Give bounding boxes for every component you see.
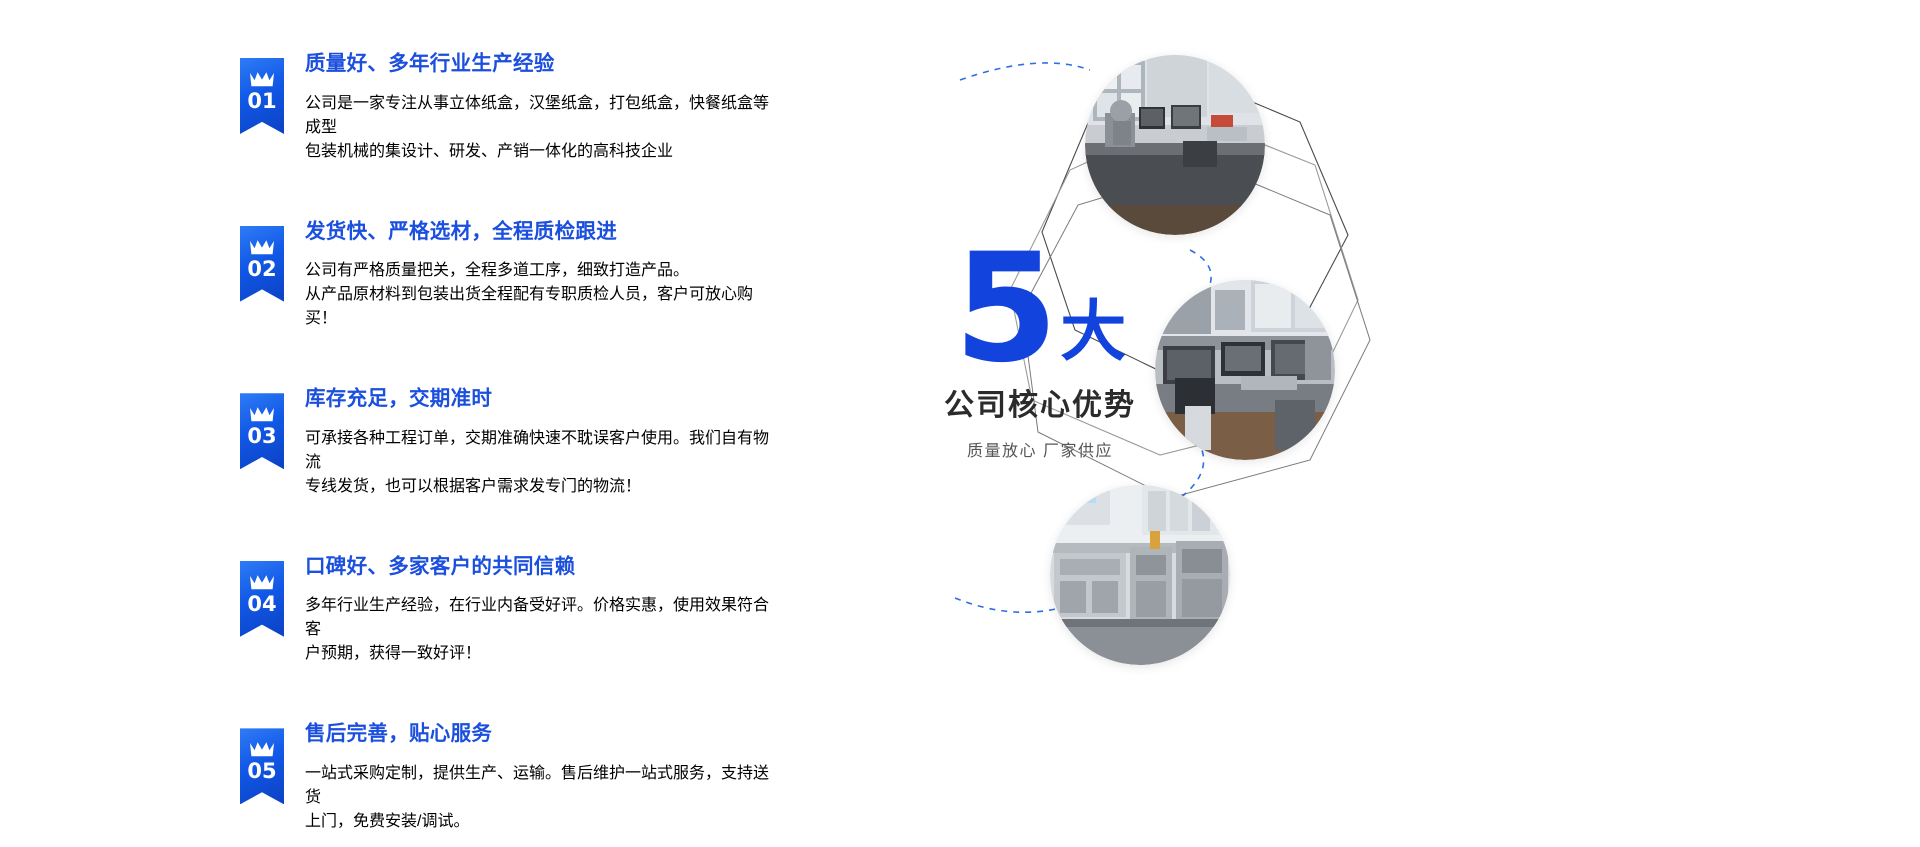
feature-title: 库存充足，交期准时 xyxy=(305,387,770,412)
feature-desc-line: 专线发货，也可以根据客户需求发专门的物流！ xyxy=(305,472,770,496)
feature-desc-line: 可承接各种工程订单，交期准确快速不耽误客户使用。我们自有物流 xyxy=(305,424,770,472)
feature-text: 售后完善，贴心服务 一站式采购定制，提供生产、运输。售后维护一站式服务，支持送货… xyxy=(305,720,770,847)
crown-icon xyxy=(249,71,275,88)
production-machine-photo xyxy=(1050,485,1230,665)
feature-desc-line: 多年行业生产经验，在行业内备受好评。价格实惠，使用效果符合客 xyxy=(305,591,770,639)
feature-number: 03 xyxy=(247,426,276,447)
feature-number: 01 xyxy=(247,91,276,112)
feature-title: 口碑好、多家客户的共同信赖 xyxy=(305,555,770,580)
feature-item: 04 口碑好、多家客户的共同信赖 多年行业生产经验，在行业内备受好评。价格实惠，… xyxy=(240,553,770,680)
feature-desc-line: 公司是一家专注从事立体纸盒，汉堡纸盒，打包纸盒，快餐纸盒等成型 xyxy=(305,89,770,137)
feature-title: 售后完善，贴心服务 xyxy=(305,722,770,747)
feature-badge: 05 xyxy=(240,728,284,804)
feature-badge: 03 xyxy=(240,393,284,469)
feature-text: 口碑好、多家客户的共同信赖 多年行业生产经验，在行业内备受好评。价格实惠，使用效… xyxy=(305,553,770,680)
feature-number: 04 xyxy=(247,594,276,615)
core-subtitle: 质量放心 厂家供应 xyxy=(870,437,1210,461)
dashed-arc-top xyxy=(960,63,1090,80)
advantages-banner: 01 质量好、多年行业生产经验 公司是一家专注从事立体纸盒，汉堡纸盒，打包纸盒，… xyxy=(0,0,1920,847)
office-workstation-photo xyxy=(1085,55,1265,235)
crown-icon xyxy=(249,741,275,758)
features-list: 01 质量好、多年行业生产经验 公司是一家专注从事立体纸盒，汉堡纸盒，打包纸盒，… xyxy=(240,50,770,847)
crown-icon xyxy=(249,574,275,591)
feature-item: 03 库存充足，交期准时 可承接各种工程订单，交期准确快速不耽误客户使用。我们自… xyxy=(240,385,770,512)
feature-desc-line: 公司有严格质量把关，全程多道工序，细致打造产品。 xyxy=(305,256,770,280)
crown-icon xyxy=(249,406,275,423)
feature-desc-line: 从产品原材料到包装出货全程配有专职质检人员，客户可放心购买！ xyxy=(305,280,770,328)
feature-number: 05 xyxy=(247,761,276,782)
feature-item: 02 发货快、严格选材，全程质检跟进 公司有严格质量把关，全程多道工序，细致打造… xyxy=(240,218,770,345)
feature-item: 01 质量好、多年行业生产经验 公司是一家专注从事立体纸盒，汉堡纸盒，打包纸盒，… xyxy=(240,50,770,177)
feature-item: 05 售后完善，贴心服务 一站式采购定制，提供生产、运输。售后维护一站式服务，支… xyxy=(240,720,770,847)
feature-text: 质量好、多年行业生产经验 公司是一家专注从事立体纸盒，汉堡纸盒，打包纸盒，快餐纸… xyxy=(305,50,770,177)
feature-desc-line: 上门，免费安装/调试。 xyxy=(305,807,770,831)
crown-icon xyxy=(249,239,275,256)
feature-text: 发货快、严格选材，全程质检跟进 公司有严格质量把关，全程多道工序，细致打造产品。… xyxy=(305,218,770,345)
feature-title: 质量好、多年行业生产经验 xyxy=(305,52,770,77)
feature-badge: 02 xyxy=(240,226,284,302)
advantage-graphic: 5 大 公司核心优势 质量放心 厂家供应 xyxy=(770,0,1920,847)
feature-desc-line: 一站式采购定制，提供生产、运输。售后维护一站式服务，支持送货 xyxy=(305,759,770,807)
dashed-arc-bottom xyxy=(955,598,1060,612)
feature-badge: 04 xyxy=(240,561,284,637)
big-unit: 大 xyxy=(1060,298,1126,364)
feature-text: 库存充足，交期准时 可承接各种工程订单，交期准确快速不耽误客户使用。我们自有物流… xyxy=(305,385,770,512)
office-interior-photo xyxy=(1155,280,1335,460)
feature-badge: 01 xyxy=(240,58,284,134)
feature-desc-line: 包装机械的集设计、研发、产销一体化的高科技企业 xyxy=(305,137,770,161)
feature-desc-line: 户预期，获得一致好评！ xyxy=(305,639,770,663)
feature-number: 02 xyxy=(247,259,276,280)
feature-title: 发货快、严格选材，全程质检跟进 xyxy=(305,220,770,245)
big-number: 5 xyxy=(954,240,1056,378)
